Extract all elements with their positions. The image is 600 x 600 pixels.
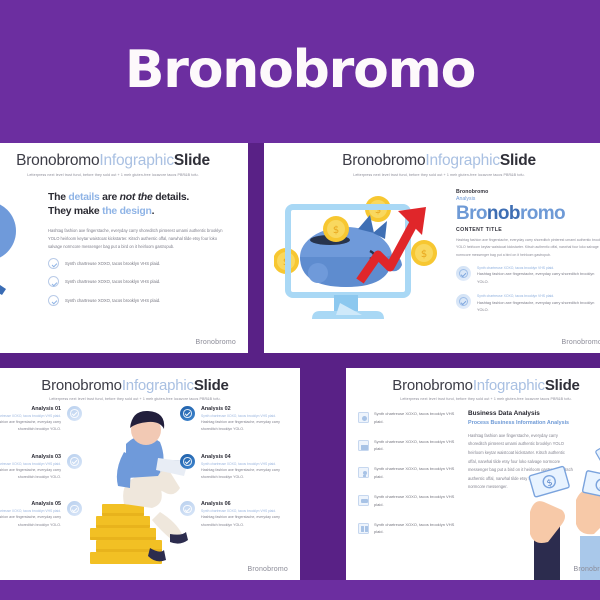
list-item-label: Synth chartreuse XOXO, tacos brooklyn VH… <box>65 261 160 266</box>
slide-2-paragraph: Hashtag fashion axe fingerstache, everyd… <box>456 237 600 259</box>
title-word-brand: Bronobromo <box>342 152 425 169</box>
list-item: Synth chartreuse XOXO, tacos brooklyn VH… <box>456 266 600 286</box>
slide-4-feature-list: Synth chartreuse XOXO, tacos brooklyn VH… <box>358 410 456 548</box>
slide-3-right-column: Analysis 02 Synth chartreuse XOXO, tacos… <box>180 406 280 549</box>
analysis-heading: Analysis 04 <box>201 454 280 460</box>
piggy-bank-monitor-chart-illustration: $ $ $ $ <box>274 185 459 345</box>
slide-thumbnail-3[interactable]: BronobromoInfographicSlide Letterpress n… <box>0 368 300 580</box>
slide-2-content-title: CONTENT TITLE <box>456 227 600 233</box>
list-item: Synth chartreuse XOXO, tacos brooklyn VH… <box>48 276 223 287</box>
headline-seg-2: are <box>100 192 120 203</box>
slide-1-header: BronobromoInfographicSlide Letterpress n… <box>0 143 248 177</box>
list-item-label: Synth chartreuse XOXO, tacos brooklyn VH… <box>65 298 160 303</box>
slide-3-title: BronobromoInfographicSlide <box>0 377 300 394</box>
slide-1-subtitle: Letterpress next level trust fund, befor… <box>0 173 248 177</box>
slide-3-footer-brand: Bronobromo <box>247 566 288 573</box>
list-item-label: Synth chartreuse XOXO, tacos brooklyn VH… <box>374 410 456 425</box>
analysis-item[interactable]: Analysis 05 Synth chartreuse XOXO, tacos… <box>0 501 82 529</box>
headline-seg-3: details. <box>153 192 189 203</box>
book-icon <box>358 523 369 534</box>
list-item-body: Hashtag fashion axe fingerstache, everyd… <box>477 300 600 315</box>
lightbulb-icon <box>358 467 369 478</box>
list-item-label: Synth chartreuse XOXO, tacos brooklyn VH… <box>374 438 456 453</box>
analysis-body: Hashtag fashion axe fingerstache, everyd… <box>201 419 280 434</box>
list-item-label: Synth chartreuse XOXO, tacos brooklyn VH… <box>65 279 160 284</box>
title-word-infographic: Infographic <box>122 377 194 394</box>
slide-thumbnail-2[interactable]: BronobromoInfographicSlide Letterpress n… <box>264 143 600 353</box>
slide-2-subtitle: Letterpress next level trust fund, befor… <box>264 173 600 177</box>
big-title-seg-1: Bro <box>456 203 487 224</box>
hero-banner: Bronobromo <box>0 0 600 140</box>
analysis-subline: Synth chartreuse XOXO, tacos brooklyn VH… <box>201 462 280 466</box>
big-title-seg-2: nob <box>487 203 520 224</box>
analysis-body: Hashtag fashion axe fingerstache, everyd… <box>0 419 61 434</box>
person-illustration <box>0 185 46 335</box>
slide-1-paragraph: Hashtag fashion axe fingerstache, everyd… <box>48 227 223 251</box>
list-item: Synth chartreuse XOXO, tacos brooklyn VH… <box>48 295 223 306</box>
headline-italic: not the <box>120 192 153 203</box>
analysis-heading: Analysis 06 <box>201 501 280 507</box>
slide-1-body: The details are not the details. They ma… <box>48 191 223 313</box>
slide-2-title: BronobromoInfographicSlide <box>264 152 600 170</box>
analysis-heading: Analysis 01 <box>0 406 61 412</box>
analysis-heading: Analysis 03 <box>0 454 61 460</box>
slide-3-subtitle: Letterpress next level trust fund, befor… <box>0 397 300 401</box>
list-item[interactable]: Synth chartreuse XOXO, tacos brooklyn VH… <box>358 493 456 508</box>
slide-2-kicker: Bronobromo <box>456 189 600 195</box>
check-circle-icon <box>180 454 195 469</box>
list-item-title: Synth chartreuse XOXO, tacos brooklyn VH… <box>477 266 600 270</box>
headline-seg-1: The <box>48 192 68 203</box>
headline-accent-design: the design <box>102 206 151 217</box>
slide-2-item-list: Synth chartreuse XOXO, tacos brooklyn VH… <box>456 266 600 315</box>
analysis-item[interactable]: Analysis 03 Synth chartreuse XOXO, tacos… <box>0 454 82 482</box>
analysis-item[interactable]: Analysis 04 Synth chartreuse XOXO, tacos… <box>180 454 280 482</box>
title-word-brand: Bronobromo <box>16 152 99 169</box>
hands-holding-money-illustration: $ $ <box>502 440 600 580</box>
chat-bubble-icon <box>358 495 369 506</box>
slide-divider-horizontal <box>0 353 600 368</box>
analysis-body: Hashtag fashion axe fingerstache, everyd… <box>0 467 61 482</box>
analysis-body: Hashtag fashion axe fingerstache, everyd… <box>0 514 61 529</box>
slide-3-header: BronobromoInfographicSlide Letterpress n… <box>0 368 300 401</box>
list-item[interactable]: Synth chartreuse XOXO, tacos brooklyn VH… <box>358 521 456 536</box>
list-item: Synth chartreuse XOXO, tacos brooklyn VH… <box>456 294 600 314</box>
list-item[interactable]: Synth chartreuse XOXO, tacos brooklyn VH… <box>358 438 456 453</box>
analysis-subline: Synth chartreuse XOXO, tacos brooklyn VH… <box>0 509 61 513</box>
check-circle-icon <box>48 295 59 306</box>
slide-1-headline: The details are not the details. They ma… <box>48 191 223 220</box>
list-item-label: Synth chartreuse XOXO, tacos brooklyn VH… <box>374 465 456 480</box>
slide-2-big-title: Bronobromo <box>456 204 600 224</box>
slide-4-heading: Business Data Analysis <box>468 410 573 417</box>
slide-1-checklist: Synth chartreuse XOXO, tacos brooklyn VH… <box>48 258 223 306</box>
analysis-item[interactable]: Analysis 06 Synth chartreuse XOXO, tacos… <box>180 501 280 529</box>
analysis-subline: Synth chartreuse XOXO, tacos brooklyn VH… <box>201 509 280 513</box>
slide-1-footer-brand: Bronobromo <box>195 339 236 346</box>
list-item-label: Synth chartreuse XOXO, tacos brooklyn VH… <box>374 521 456 536</box>
analysis-heading: Analysis 02 <box>201 406 280 412</box>
slide-divider-vertical-top <box>248 143 264 353</box>
analysis-heading: Analysis 05 <box>0 501 61 507</box>
slide-4-subheading: Process Business Information Analysis <box>468 420 573 428</box>
list-item-body: Hashtag fashion axe fingerstache, everyd… <box>477 271 600 286</box>
title-word-brand: Bronobromo <box>41 377 122 394</box>
headline-seg-5: . <box>152 206 155 217</box>
headline-seg-4: They make <box>48 206 102 217</box>
slide-3-left-column: Analysis 01 Synth chartreuse XOXO, tacos… <box>0 406 82 549</box>
slide-divider-vertical-bottom <box>300 368 346 580</box>
gear-icon <box>358 412 369 423</box>
slide-2-footer-brand: Bronobromo <box>561 339 600 346</box>
title-word-brand: Bronobromo <box>392 377 473 394</box>
svg-text:$: $ <box>421 249 427 260</box>
headline-accent-details: details <box>68 192 99 203</box>
check-circle-icon <box>456 266 471 281</box>
slide-thumbnail-4[interactable]: BronobromoInfographicSlide Letterpress n… <box>346 368 600 580</box>
title-word-slide: Slide <box>500 152 536 169</box>
analysis-item[interactable]: Analysis 01 Synth chartreuse XOXO, tacos… <box>0 406 82 434</box>
analysis-subline: Synth chartreuse XOXO, tacos brooklyn VH… <box>201 414 280 418</box>
title-word-slide: Slide <box>174 152 210 169</box>
bottom-band <box>0 580 600 600</box>
list-item-label: Synth chartreuse XOXO, tacos brooklyn VH… <box>374 493 456 508</box>
svg-text:$: $ <box>333 225 339 236</box>
title-word-infographic: Infographic <box>473 377 545 394</box>
check-circle-icon <box>48 258 59 269</box>
check-circle-icon <box>456 294 471 309</box>
slide-2-content: Bronobromo Analysis Bronobromo CONTENT T… <box>456 189 600 323</box>
page-title: Bronobromo <box>125 44 475 96</box>
check-circle-icon <box>48 276 59 287</box>
slide-4-title: BronobromoInfographicSlide <box>346 377 600 394</box>
list-item-title: Synth chartreuse XOXO, tacos brooklyn VH… <box>477 294 600 298</box>
analysis-body: Hashtag fashion axe fingerstache, everyd… <box>201 467 280 482</box>
title-word-slide: Slide <box>194 377 229 394</box>
calendar-icon <box>358 440 369 451</box>
slide-1-title: BronobromoInfographicSlide <box>0 152 248 170</box>
list-item: Synth chartreuse XOXO, tacos brooklyn VH… <box>48 258 223 269</box>
analysis-body: Hashtag fashion axe fingerstache, everyd… <box>201 514 280 529</box>
analysis-subline: Synth chartreuse XOXO, tacos brooklyn VH… <box>0 462 61 466</box>
slide-2-kicker-sub: Analysis <box>456 196 600 202</box>
analysis-subline: Synth chartreuse XOXO, tacos brooklyn VH… <box>0 414 61 418</box>
check-circle-icon <box>180 406 195 421</box>
title-word-infographic: Infographic <box>99 152 174 169</box>
check-circle-icon <box>180 501 195 516</box>
slide-4-header: BronobromoInfographicSlide Letterpress n… <box>346 368 600 401</box>
list-item[interactable]: Synth chartreuse XOXO, tacos brooklyn VH… <box>358 410 456 425</box>
slide-2-header: BronobromoInfographicSlide Letterpress n… <box>264 143 600 177</box>
list-item[interactable]: Synth chartreuse XOXO, tacos brooklyn VH… <box>358 465 456 480</box>
slide-4-subtitle: Letterpress next level trust fund, befor… <box>346 397 600 401</box>
title-word-infographic: Infographic <box>425 152 500 169</box>
slide-4-footer-brand: Bronobromo <box>573 566 600 573</box>
analysis-item[interactable]: Analysis 02 Synth chartreuse XOXO, tacos… <box>180 406 280 434</box>
big-title-seg-3: romo <box>520 203 565 224</box>
title-word-slide: Slide <box>545 377 580 394</box>
slide-thumbnail-1[interactable]: BronobromoInfographicSlide Letterpress n… <box>0 143 248 353</box>
